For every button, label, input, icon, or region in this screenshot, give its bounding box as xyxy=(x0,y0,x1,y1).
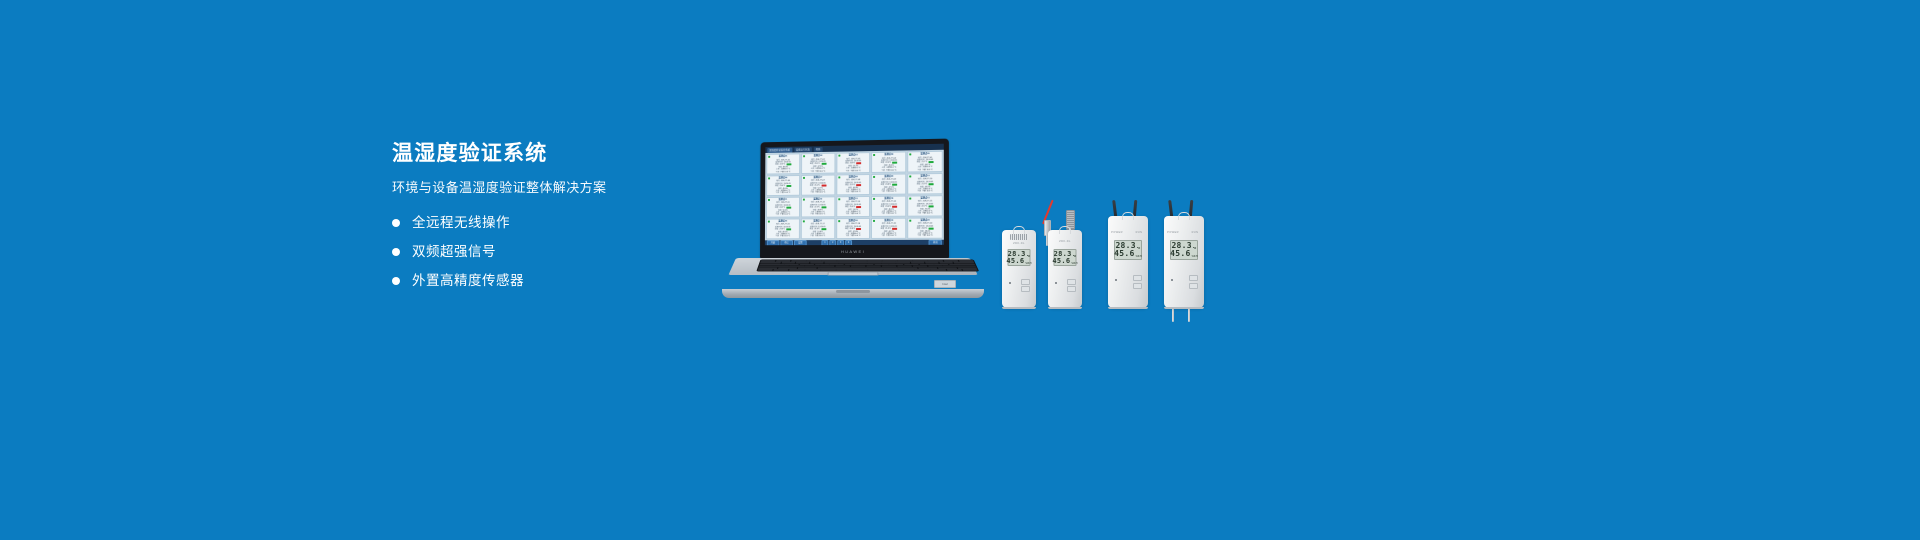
device-status-led-icon xyxy=(1055,282,1057,284)
device-wireless-logger-a: POWER RUN 28.3 ℃ 45.6 %RH xyxy=(1108,216,1148,308)
sensor-card[interactable]: 监测点10编号ZDK-TT-10采集时间13:24:05温度21.3℃湿度43.… xyxy=(907,173,942,195)
lcd-humidity-value: 45.6 xyxy=(1170,250,1190,258)
sensor-card-fields: 编号ZDK-TT-07采集时间13:24:05温度25.2℃湿度52.7%上限上… xyxy=(803,180,833,195)
sensor-card-fields: 编号ZDK-TT-13采集时间13:24:05温度25.6℃湿度53.1%上限上… xyxy=(838,201,869,216)
feature-list: 全远程无线操作 双频超强信号 外置高精度传感器 xyxy=(392,215,722,289)
sensor-card[interactable]: 监测点04编号ZDK-TT-04采集时间13:24:05温度22.0℃湿度45.… xyxy=(871,151,906,172)
lcd-humidity-value: 45.6 xyxy=(1052,258,1070,265)
bullet-dot-icon xyxy=(392,248,400,256)
sensor-status-led-icon xyxy=(803,220,805,222)
page-title: 温湿度验证系统 xyxy=(392,141,722,167)
sensor-card[interactable]: 监测点03编号ZDK-TT-03采集时间13:24:05温度24.8℃湿度51.… xyxy=(836,152,871,173)
device-data-logger-probe: ZDK-DL 28.3 ℃ 45.6 %RH xyxy=(1048,230,1082,308)
sensor-card-fields: 编号ZDK-TT-19采集时间13:24:05温度21.9℃湿度44.7%上限上… xyxy=(873,223,904,238)
device-status-led-icon xyxy=(1009,282,1011,284)
sensor-card-fields: 编号ZDK-TT-05采集时间13:24:05温度21.7℃湿度44.1%上限上… xyxy=(909,156,940,171)
sensor-field-lower: 下限下限 10.0 ℃ xyxy=(873,191,904,194)
feature-label: 全远程无线操作 xyxy=(412,215,510,231)
device-body: ZDK-DL 28.3 ℃ 45.6 %RH xyxy=(1002,230,1036,308)
laptop-sticker: Intel xyxy=(934,280,956,288)
sensor-card-fields: 编号ZDK-TT-01采集时间13:24:05温度22.6℃湿度48.3%上限上… xyxy=(768,159,798,174)
feature-label: 外置高精度传感器 xyxy=(412,273,524,289)
keyboard-key[interactable] xyxy=(899,269,914,271)
device-label-run: RUN xyxy=(1175,231,1215,234)
sensor-card-fields: 编号ZDK-TT-08采集时间13:24:05温度22.9℃湿度46.8%上限上… xyxy=(838,179,869,194)
device-hanger-icon xyxy=(1059,226,1071,234)
lcd-humidity-row: 45.6 %RH xyxy=(1057,258,1074,265)
sensor-field-lower: 下限下限 10.0 ℃ xyxy=(838,170,869,173)
sensor-status-led-icon xyxy=(909,219,911,221)
sensor-field-lower: 下限下限 10.0 ℃ xyxy=(838,235,869,238)
sensor-field-lower: 下限下限 10.0 ℃ xyxy=(768,171,798,174)
device-button-up[interactable] xyxy=(1133,275,1142,281)
keyboard-row xyxy=(758,269,978,271)
sensor-status-led-icon xyxy=(768,156,770,158)
sensor-card[interactable]: 监测点05编号ZDK-TT-05采集时间13:24:05温度21.7℃湿度44.… xyxy=(907,151,942,173)
device-hanger-icon xyxy=(1013,226,1025,234)
sensor-field-lower: 下限下限 10.0 ℃ xyxy=(909,169,940,172)
device-body: POWER RUN 28.3 ℃ 45.6 %RH xyxy=(1164,216,1204,308)
sensor-card-fields: 编号ZDK-TT-20采集时间13:24:05温度23.3℃湿度48.0%上限上… xyxy=(909,223,940,238)
keyboard-key[interactable] xyxy=(789,269,804,271)
sensor-status-led-icon xyxy=(803,177,805,179)
device-button-up[interactable] xyxy=(1189,275,1198,281)
laptop-brand: HUAWEI xyxy=(760,245,949,257)
lcd-humidity-unit: %RH xyxy=(1192,255,1198,258)
sensor-card-fields: 编号ZDK-TT-15采集时间13:24:05温度22.2℃湿度45.0%上限上… xyxy=(909,201,940,216)
device-foot xyxy=(1048,307,1082,310)
sensor-card-fields: 编号ZDK-TT-16采集时间13:24:05温度23.6℃湿度49.5%上限上… xyxy=(768,224,798,238)
banner-stage: 温湿度验证系统 环境与设备温湿度验证整体解决方案 全远程无线操作 双频超强信号 … xyxy=(0,0,1920,540)
sensor-field-lower: 下限下限 10.0 ℃ xyxy=(768,214,798,217)
sensor-card[interactable]: 监测点12编号ZDK-TT-12采集时间13:24:05温度22.5℃湿度48.… xyxy=(801,196,835,217)
lcd-humidity-unit: %RH xyxy=(1136,255,1142,258)
lcd-humidity-row: 45.6 %RH xyxy=(1173,250,1195,258)
sensor-card[interactable]: 监测点09编号ZDK-TT-09采集时间13:24:05温度23.8℃湿度47.… xyxy=(871,173,906,194)
sensor-field-lower: 下限下限 10.0 ℃ xyxy=(873,235,904,238)
feature-item-3: 外置高精度传感器 xyxy=(392,273,722,289)
sensor-card-fields: 编号ZDK-TT-14采集时间13:24:05温度23.0℃湿度46.2%上限上… xyxy=(873,201,904,216)
sensor-status-led-icon xyxy=(838,198,840,200)
sensor-status-led-icon xyxy=(838,176,840,178)
device-lcd: 28.3 ℃ 45.6 %RH xyxy=(1170,240,1198,260)
device-brand-label: ZDK-DL xyxy=(1048,240,1082,243)
feature-label: 双频超强信号 xyxy=(412,244,496,260)
app-tab-help[interactable]: 帮助 xyxy=(814,147,823,152)
laptop-illustration: 温湿度验证监控系统 设备运行状态 帮助 监测点01编号ZDK-TT-01采集时间… xyxy=(722,140,984,298)
device-button-down[interactable] xyxy=(1067,286,1076,292)
sensor-status-led-icon xyxy=(909,197,911,199)
sensor-card[interactable]: 监测点06编号ZDK-TT-06采集时间13:24:05温度23.4℃湿度49.… xyxy=(766,175,800,196)
page-subtitle: 环境与设备温湿度验证整体解决方案 xyxy=(392,179,722,197)
laptop-lid: 温湿度验证监控系统 设备运行状态 帮助 监测点01编号ZDK-TT-01采集时间… xyxy=(760,139,949,258)
sensor-field-lower: 下限下限 10.0 ℃ xyxy=(803,170,833,173)
promo-banner: 温湿度验证系统 环境与设备温湿度验证整体解决方案 全远程无线操作 双频超强信号 … xyxy=(0,0,1920,540)
sensor-field-lower: 下限下限 10.0 ℃ xyxy=(838,213,869,216)
laptop-front-edge xyxy=(722,289,984,298)
laptop-deck xyxy=(728,258,977,275)
device-button-up[interactable] xyxy=(1021,279,1030,285)
sensor-card[interactable]: 监测点14编号ZDK-TT-14采集时间13:24:05温度23.0℃湿度46.… xyxy=(871,195,906,216)
sensor-card-fields: 编号ZDK-TT-11采集时间13:24:05温度24.1℃湿度50.4%上限上… xyxy=(768,202,798,216)
laptop-base: Intel xyxy=(722,258,984,298)
laptop-keyboard[interactable] xyxy=(756,260,979,272)
keyboard-key[interactable] xyxy=(946,269,962,271)
bullet-dot-icon xyxy=(392,277,400,285)
laptop-trackpad[interactable] xyxy=(827,272,878,276)
sensor-field-lower: 下限下限 10.0 ℃ xyxy=(803,235,833,237)
sensor-field-lower: 下限下限 10.0 ℃ xyxy=(873,213,904,216)
sensor-card[interactable]: 监测点18编号ZDK-TT-18采集时间13:24:05温度22.8℃湿度47.… xyxy=(836,218,871,239)
bullet-dot-icon xyxy=(392,219,400,227)
device-status-led-icon xyxy=(1115,279,1117,281)
banner-copy: 温湿度验证系统 环境与设备温湿度验证整体解决方案 全远程无线操作 双频超强信号 … xyxy=(392,141,722,302)
sensor-card-grid: 监测点01编号ZDK-TT-01采集时间13:24:05温度22.6℃湿度48.… xyxy=(765,150,944,240)
sensor-field-lower: 下限下限 10.0 ℃ xyxy=(768,236,798,238)
sensor-field-lower: 下限下限 10.0 ℃ xyxy=(909,191,940,194)
device-hanger-icon xyxy=(1178,212,1190,220)
lcd-humidity-row: 45.6 %RH xyxy=(1117,250,1139,258)
keyboard-key[interactable] xyxy=(852,269,867,271)
sensor-status-led-icon xyxy=(768,220,770,222)
lcd-humidity-unit: %RH xyxy=(1071,262,1077,265)
device-lcd: 28.3 ℃ 45.6 %RH xyxy=(1008,249,1031,266)
device-status-led-icon xyxy=(1171,279,1173,281)
sensor-card-fields: 编号ZDK-TT-04采集时间13:24:05温度22.0℃湿度45.6%上限上… xyxy=(873,157,904,172)
sensor-field-lower: 下限下限 10.0 ℃ xyxy=(838,191,869,194)
feature-item-2: 双频超强信号 xyxy=(392,244,722,260)
keyboard-key[interactable] xyxy=(773,269,789,271)
laptop-open-notch xyxy=(836,290,870,293)
device-lcd: 28.3 ℃ 45.6 %RH xyxy=(1054,249,1077,266)
lcd-humidity-value: 45.6 xyxy=(1114,250,1134,258)
sensor-status-led-icon xyxy=(838,155,840,157)
sensor-card[interactable]: 监测点02编号ZDK-TT-02采集时间13:24:05温度23.1℃湿度47.… xyxy=(801,153,835,174)
sensor-card-fields: 编号ZDK-TT-17采集时间13:24:05温度24.4℃湿度51.8%上限上… xyxy=(803,223,833,237)
lcd-humidity-value: 45.6 xyxy=(1006,258,1024,265)
sensor-field-lower: 下限下限 10.0 ℃ xyxy=(803,192,833,195)
keyboard-key[interactable] xyxy=(805,269,820,271)
sensor-status-led-icon xyxy=(803,155,805,157)
device-foot xyxy=(1164,307,1204,310)
sensor-card[interactable]: 监测点08编号ZDK-TT-08采集时间13:24:05温度22.9℃湿度46.… xyxy=(836,174,871,195)
sensor-card-fields: 编号ZDK-TT-18采集时间13:24:05温度22.8℃湿度47.6%上限上… xyxy=(838,223,869,238)
sensor-card-fields: 编号ZDK-TT-10采集时间13:24:05温度21.3℃湿度43.5%上限上… xyxy=(909,178,940,193)
device-foot xyxy=(1002,307,1036,310)
sensor-field-lower: 下限下限 10.0 ℃ xyxy=(909,213,940,216)
device-lcd: 28.3 ℃ 45.6 %RH xyxy=(1114,240,1142,260)
sensor-status-led-icon xyxy=(909,153,911,155)
lcd-humidity-unit: %RH xyxy=(1025,262,1031,265)
device-button-down[interactable] xyxy=(1189,283,1198,289)
sensor-card[interactable]: 监测点19编号ZDK-TT-19采集时间13:24:05温度21.9℃湿度44.… xyxy=(871,218,906,239)
keyboard-key[interactable] xyxy=(821,269,836,271)
device-data-logger-basic: ZDK-DL 28.3 ℃ 45.6 %RH xyxy=(1002,230,1036,308)
sensor-card[interactable]: 监测点20编号ZDK-TT-20采集时间13:24:05温度23.3℃湿度48.… xyxy=(907,217,942,238)
keyboard-key[interactable] xyxy=(758,269,774,271)
sensor-card[interactable]: 监测点11编号ZDK-TT-11采集时间13:24:05温度24.1℃湿度50.… xyxy=(766,197,800,218)
device-button-down[interactable] xyxy=(1021,286,1030,292)
device-foot xyxy=(1108,307,1148,310)
sensor-card[interactable]: 监测点07编号ZDK-TT-07采集时间13:24:05温度25.2℃湿度52.… xyxy=(801,174,835,195)
keyboard-key[interactable] xyxy=(962,269,978,271)
device-vent-icon xyxy=(1010,234,1028,240)
keyboard-key[interactable] xyxy=(884,269,899,271)
sensor-status-led-icon xyxy=(768,177,770,179)
keyboard-key[interactable] xyxy=(868,269,883,271)
device-lineup: ZDK-DL 28.3 ℃ 45.6 %RH xyxy=(1000,178,1220,308)
sensor-status-led-icon xyxy=(838,220,840,222)
sensor-status-led-icon xyxy=(803,199,805,201)
device-body: ZDK-DL 28.3 ℃ 45.6 %RH xyxy=(1048,230,1082,308)
device-hanger-icon xyxy=(1122,212,1134,220)
sensor-card-fields: 编号ZDK-TT-03采集时间13:24:05温度24.8℃湿度51.2%上限上… xyxy=(838,158,869,173)
sensor-card-fields: 编号ZDK-TT-09采集时间13:24:05温度23.8℃湿度47.2%上限上… xyxy=(873,179,904,194)
keyboard-key[interactable] xyxy=(836,269,851,271)
sensor-card[interactable]: 监测点13编号ZDK-TT-13采集时间13:24:05温度25.6℃湿度53.… xyxy=(836,196,871,217)
sensor-field-lower: 下限下限 10.0 ℃ xyxy=(873,169,904,172)
sensor-status-led-icon xyxy=(768,199,770,201)
sensor-card[interactable]: 监测点01编号ZDK-TT-01采集时间13:24:05温度22.6℃湿度48.… xyxy=(766,153,800,174)
device-brand-label: ZDK-DL xyxy=(1002,242,1036,245)
feature-item-1: 全远程无线操作 xyxy=(392,215,722,231)
sensor-card[interactable]: 监测点17编号ZDK-TT-17采集时间13:24:05温度24.4℃湿度51.… xyxy=(801,218,835,239)
device-wireless-logger-b: POWER RUN 28.3 ℃ 45.6 %RH xyxy=(1164,216,1204,308)
sensor-card-fields: 编号ZDK-TT-06采集时间13:24:05温度23.4℃湿度49.0%上限上… xyxy=(768,180,798,195)
sensor-card-fields: 编号ZDK-TT-02采集时间13:24:05温度23.1℃湿度47.9%上限上… xyxy=(803,158,833,173)
sensor-field-lower: 下限下限 10.0 ℃ xyxy=(768,192,798,195)
sensor-field-lower: 下限下限 10.0 ℃ xyxy=(909,235,940,238)
device-button-up[interactable] xyxy=(1067,279,1076,285)
lcd-humidity-row: 45.6 %RH xyxy=(1011,258,1028,265)
keyboard-key[interactable] xyxy=(915,269,930,271)
sensor-status-led-icon xyxy=(909,175,911,177)
sensor-card[interactable]: 监测点16编号ZDK-TT-16采集时间13:24:05温度23.6℃湿度49.… xyxy=(766,218,800,239)
sensor-card[interactable]: 监测点15编号ZDK-TT-15采集时间13:24:05温度22.2℃湿度45.… xyxy=(907,195,942,216)
device-button-down[interactable] xyxy=(1133,283,1142,289)
sensor-field-lower: 下限下限 10.0 ℃ xyxy=(803,214,833,217)
sensor-card-fields: 编号ZDK-TT-12采集时间13:24:05温度22.5℃湿度48.9%上限上… xyxy=(803,202,833,217)
device-body: POWER RUN 28.3 ℃ 45.6 %RH xyxy=(1108,216,1148,308)
keyboard-key[interactable] xyxy=(931,269,947,271)
laptop-screen: 温湿度验证监控系统 设备运行状态 帮助 监测点01编号ZDK-TT-01采集时间… xyxy=(765,144,944,245)
